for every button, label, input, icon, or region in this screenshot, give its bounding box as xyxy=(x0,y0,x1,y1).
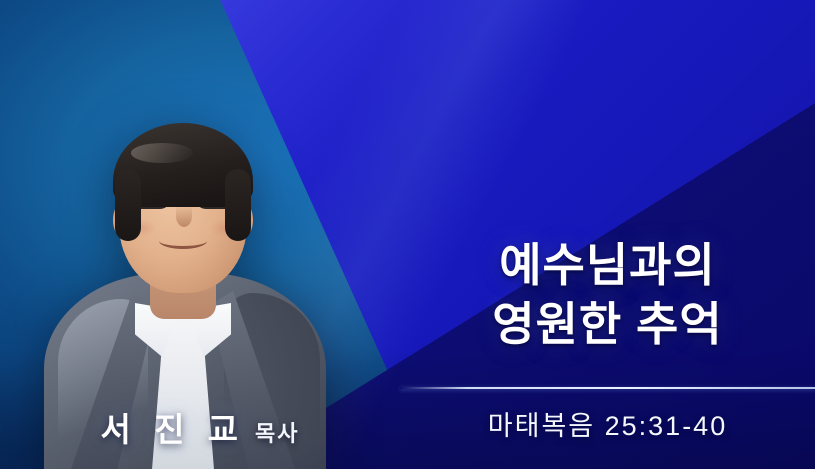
portrait-hair-side-left xyxy=(115,169,141,241)
portrait-hair-side-right xyxy=(225,169,251,241)
portrait-smile xyxy=(159,233,207,249)
sermon-title-line-1: 예수님과의 xyxy=(400,236,815,295)
sermon-title-block: 예수님과의 영원한 추억 xyxy=(400,236,815,355)
portrait-hair-highlight xyxy=(131,143,193,163)
sermon-title-line-2: 영원한 추억 xyxy=(400,295,815,354)
speaker-name-block: 서 진 교목사 xyxy=(0,403,400,451)
scripture-reference: 마태복음 25:31-40 xyxy=(400,404,815,443)
sermon-title-card: 서 진 교목사 예수님과의 영원한 추억 마태복음 25:31-40 xyxy=(0,0,815,469)
speaker-name: 서 진 교 xyxy=(101,403,245,451)
title-divider xyxy=(400,387,815,389)
speaker-role: 목사 xyxy=(255,416,299,448)
